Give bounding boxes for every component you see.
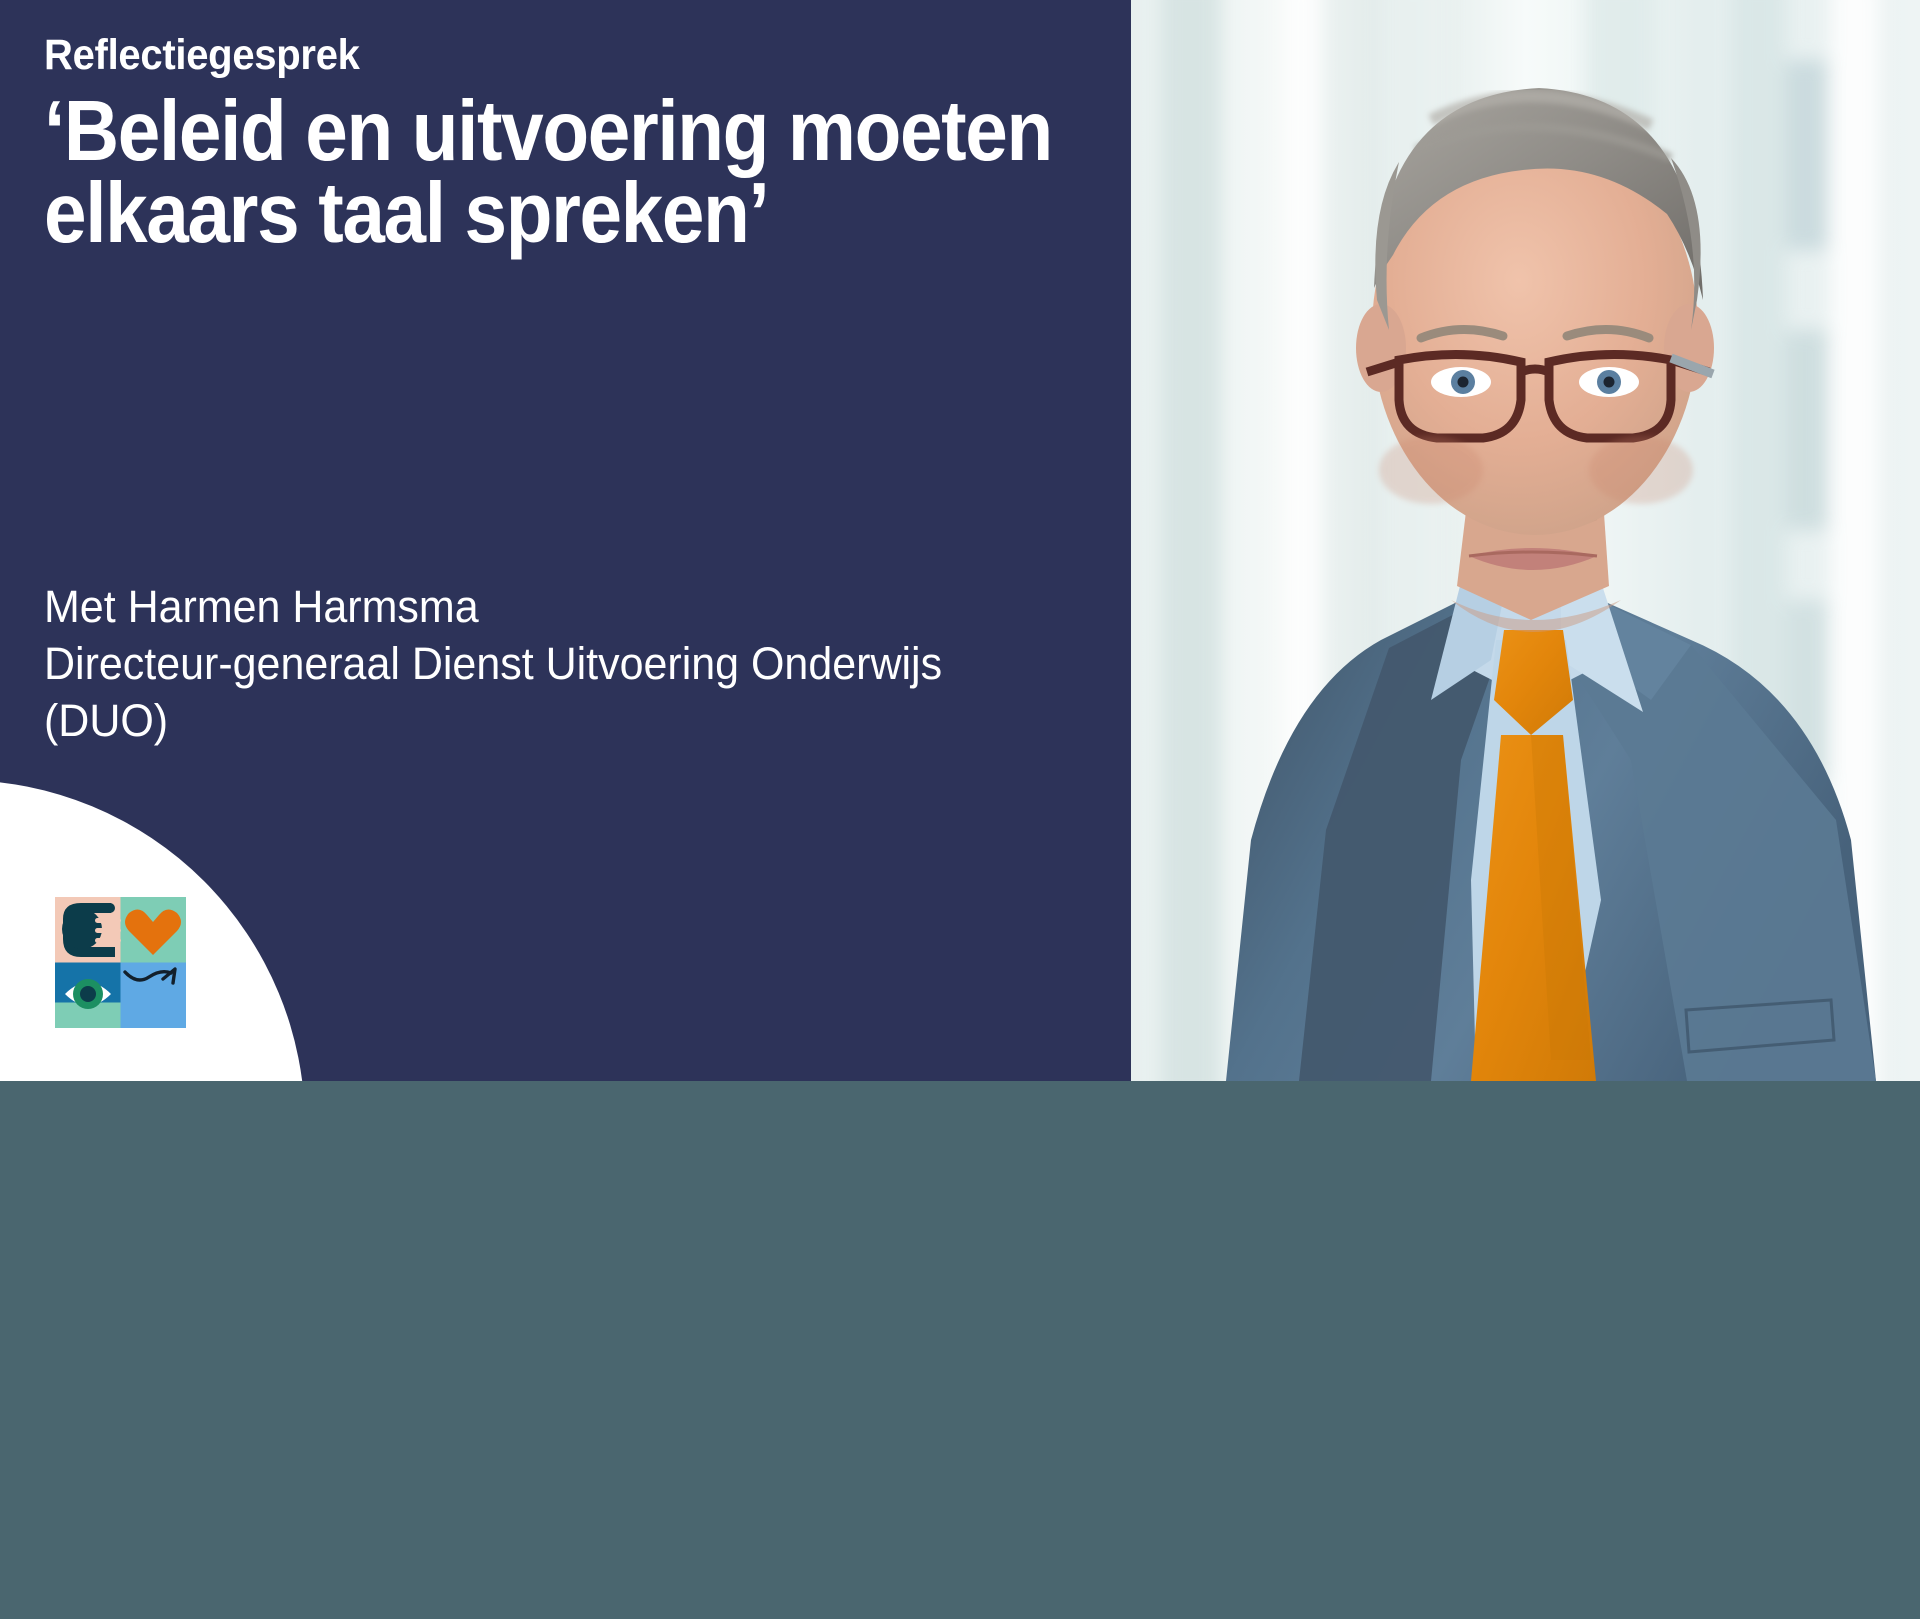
hero-text-block: Reflectiegesprek ‘Beleid en uitvoering m… [44,34,1104,256]
organisation-logo [55,897,186,1028]
byline-line-2: Directeur-generaal Dienst Uitvoering Ond… [44,635,1066,692]
byline-line-3: (DUO) [44,692,1066,749]
byline-line-1: Met Harmen Harmsma [44,578,1066,635]
hero-banner: Reflectiegesprek ‘Beleid en uitvoering m… [0,0,1920,1081]
hero-byline: Met Harmen Harmsma Directeur-generaal Di… [44,578,1066,749]
portrait-photo [1131,0,1920,1081]
hero-headline: ‘Beleid en uitvoering moeten elkaars taa… [44,91,1052,256]
hero-kicker: Reflectiegesprek [44,34,1030,77]
page-body-area [0,1081,1920,1619]
page-root: Reflectiegesprek ‘Beleid en uitvoering m… [0,0,1920,1619]
